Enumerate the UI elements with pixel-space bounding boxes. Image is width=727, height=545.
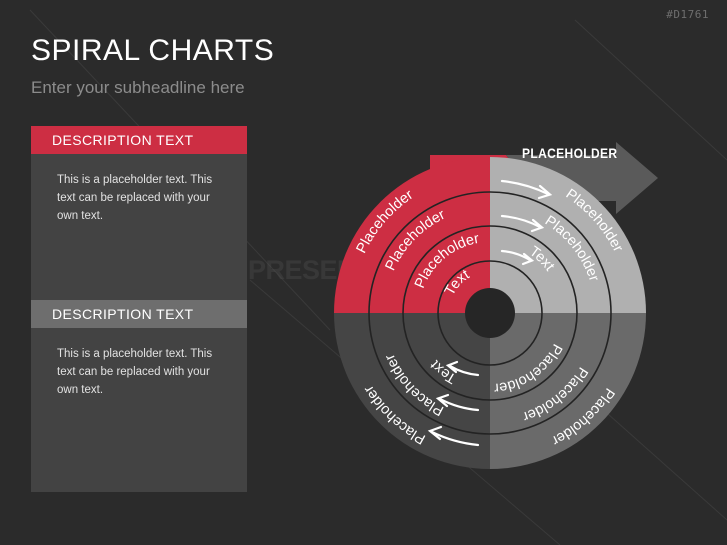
page-title: SPIRAL CHARTS: [31, 34, 274, 68]
document-id: #D1761: [666, 8, 709, 21]
card-2-body[interactable]: This is a placeholder text. This text ca…: [31, 328, 247, 492]
chart-hub: [465, 288, 515, 338]
description-card-1[interactable]: DESCRIPTION TEXT This is a placeholder t…: [31, 126, 247, 314]
arrow-banner-label: PLACEHOLDER: [522, 145, 617, 161]
card-2-heading: DESCRIPTION TEXT: [31, 300, 247, 328]
card-1-body[interactable]: This is a placeholder text. This text ca…: [31, 154, 247, 314]
spiral-chart[interactable]: Placeholder Placeholder Placeholder Text…: [320, 128, 720, 473]
page-subtitle: Enter your subheadline here: [31, 78, 245, 98]
description-card-2[interactable]: DESCRIPTION TEXT This is a placeholder t…: [31, 300, 247, 492]
card-1-heading: DESCRIPTION TEXT: [31, 126, 247, 154]
slide-canvas: #D1761 SPIRAL CHARTS Enter your subheadl…: [0, 0, 727, 545]
